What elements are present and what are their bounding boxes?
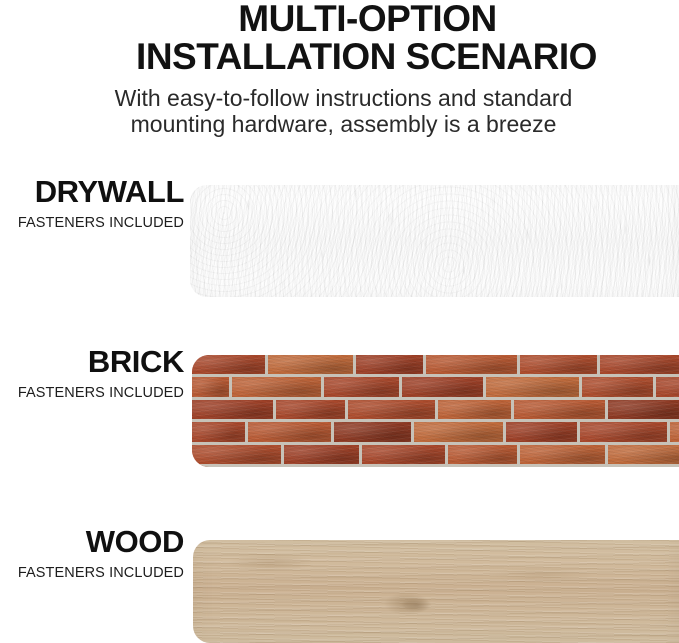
drywall-texture-panel — [190, 185, 679, 297]
brick-unit — [192, 377, 232, 399]
brick-label-group: BRICK FASTENERS INCLUDED — [0, 345, 184, 402]
brick-unit — [656, 377, 679, 399]
page-title-line-2: INSTALLATION SCENARIO — [0, 37, 679, 77]
brick-unit — [580, 422, 670, 444]
brick-unit — [232, 377, 324, 399]
brick-unit — [438, 400, 514, 422]
page-title-line-1: MULTI-OPTION — [0, 0, 679, 39]
material-name-wood: WOOD — [0, 525, 184, 559]
brick-unit — [608, 400, 679, 422]
material-row-wood: WOOD FASTENERS INCLUDED — [0, 525, 679, 643]
installation-scenario-infographic: MULTI-OPTION INSTALLATION SCENARIO With … — [0, 0, 679, 643]
material-name-drywall: DRYWALL — [0, 175, 184, 209]
subtitle-line-2: mounting hardware, assembly is a breeze — [0, 110, 679, 139]
brick-unit — [356, 355, 426, 377]
fasteners-note-drywall: FASTENERS INCLUDED — [0, 214, 184, 232]
brick-unit — [192, 400, 276, 422]
material-row-drywall: DRYWALL FASTENERS INCLUDED — [0, 175, 679, 315]
brick-unit — [192, 355, 268, 377]
brick-course — [192, 400, 679, 422]
brick-unit — [334, 422, 414, 444]
brick-unit — [268, 355, 356, 377]
brick-unit — [670, 422, 679, 444]
brick-unit — [520, 355, 600, 377]
brick-course — [192, 355, 679, 377]
brick-texture-panel — [192, 355, 679, 467]
brick-course — [192, 377, 679, 399]
brick-unit — [506, 422, 580, 444]
fasteners-note-wood: FASTENERS INCLUDED — [0, 564, 184, 582]
brick-course — [192, 445, 679, 467]
brick-unit — [414, 422, 506, 444]
brick-unit — [248, 422, 334, 444]
brick-unit — [324, 377, 402, 399]
brick-unit — [514, 400, 608, 422]
material-row-brick: BRICK FASTENERS INCLUDED — [0, 345, 679, 485]
wood-texture-panel — [193, 540, 679, 643]
drywall-stucco-overlay — [190, 185, 679, 297]
brick-unit — [600, 355, 679, 377]
drywall-label-group: DRYWALL FASTENERS INCLUDED — [0, 175, 184, 232]
brick-unit — [348, 400, 438, 422]
wood-label-group: WOOD FASTENERS INCLUDED — [0, 525, 184, 582]
brick-unit — [362, 445, 448, 467]
brick-unit — [486, 377, 582, 399]
fasteners-note-brick: FASTENERS INCLUDED — [0, 384, 184, 402]
brick-unit — [192, 422, 248, 444]
subtitle-line-1: With easy-to-follow instructions and sta… — [0, 84, 679, 113]
brick-unit — [608, 445, 679, 467]
brick-unit — [426, 355, 520, 377]
brick-course — [192, 422, 679, 444]
brick-unit — [520, 445, 608, 467]
brick-unit — [276, 400, 348, 422]
brick-unit — [192, 445, 284, 467]
brick-unit — [284, 445, 362, 467]
brick-unit — [582, 377, 656, 399]
brick-unit — [448, 445, 520, 467]
header: MULTI-OPTION INSTALLATION SCENARIO With … — [0, 0, 679, 160]
material-name-brick: BRICK — [0, 345, 184, 379]
brick-unit — [402, 377, 486, 399]
